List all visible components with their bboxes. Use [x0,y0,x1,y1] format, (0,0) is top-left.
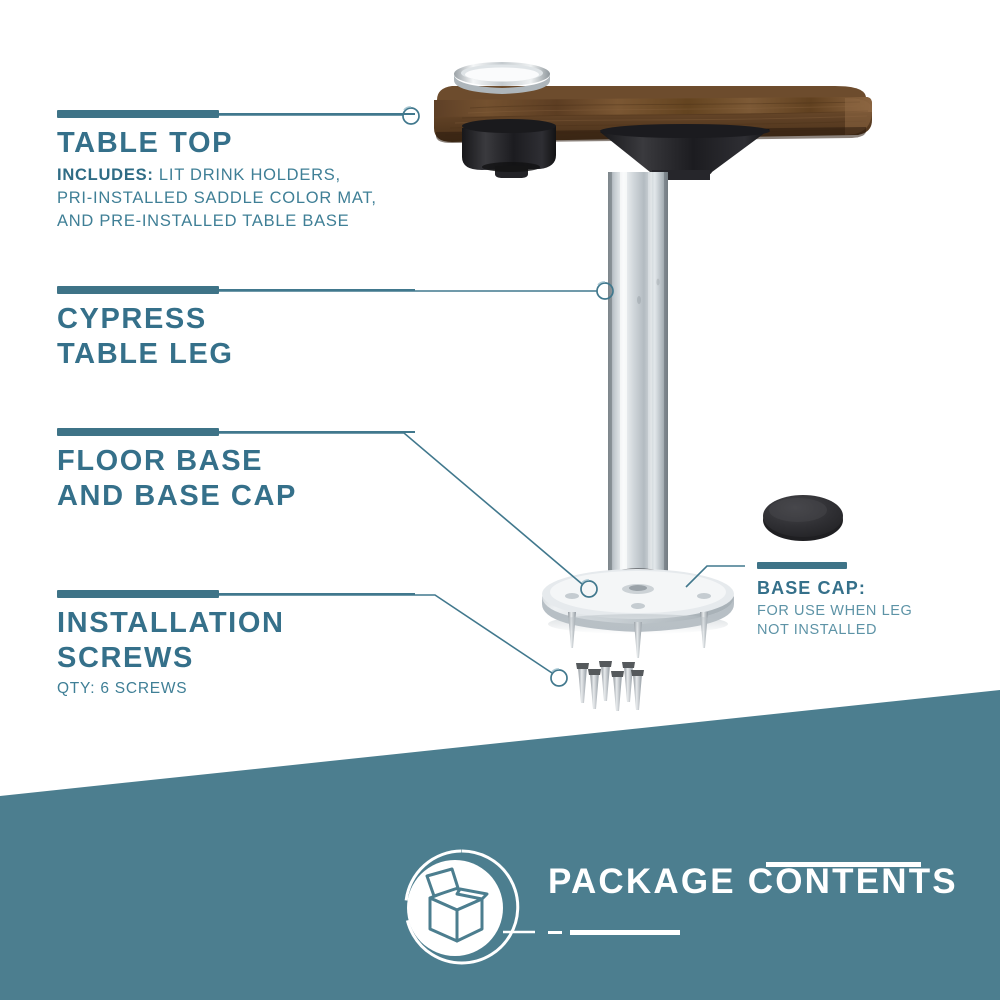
callout-title: FLOOR BASE AND BASE CAP [57,444,487,513]
callout-cypress-table-leg: CYPRESS TABLE LEG [57,284,487,371]
callout-rule [57,426,487,438]
callout-rule [57,108,487,120]
callout-subtitle: INCLUDES: LIT DRINK HOLDERS, PRI-INSTALL… [57,164,487,234]
callout-title: TABLE TOP [57,126,487,161]
callout-rule [57,284,487,296]
installation-screws [576,661,644,711]
callout-subtitle: QTY: 6 SCREWS [57,678,487,700]
callout-subtitle: FOR USE WHEN LEG NOT INSTALLED [757,602,987,641]
callout-installation-screws: INSTALLATION SCREWS QTY: 6 SCREWS [57,588,487,700]
callout-title: INSTALLATION SCREWS [57,606,487,675]
callout-floor-base-and-base-cap: FLOOR BASE AND BASE CAP [57,426,487,513]
black-table-base [600,124,770,180]
base-cap-disc [763,495,843,541]
lit-drink-holder [454,62,550,94]
callout-subtitle-bold: INCLUDES: [57,166,154,184]
callout-rule [757,560,987,572]
callout-title: BASE CAP: [757,578,987,600]
floor-base-plate [542,569,734,658]
callout-base-cap: BASE CAP: FOR USE WHEN LEG NOT INSTALLED [757,560,987,640]
banner-bar-dash [548,931,562,934]
callout-table-top: TABLE TOP INCLUDES: LIT DRINK HOLDERS, P… [57,108,487,234]
banner-title: PACKAGE CONTENTS [548,862,958,902]
callout-rule [57,588,487,600]
cypress-table-leg [607,172,669,585]
callout-title: CYPRESS TABLE LEG [57,302,487,371]
banner-bar-bottom [570,930,680,935]
infographic-canvas: TABLE TOP INCLUDES: LIT DRINK HOLDERS, P… [0,0,1000,1000]
